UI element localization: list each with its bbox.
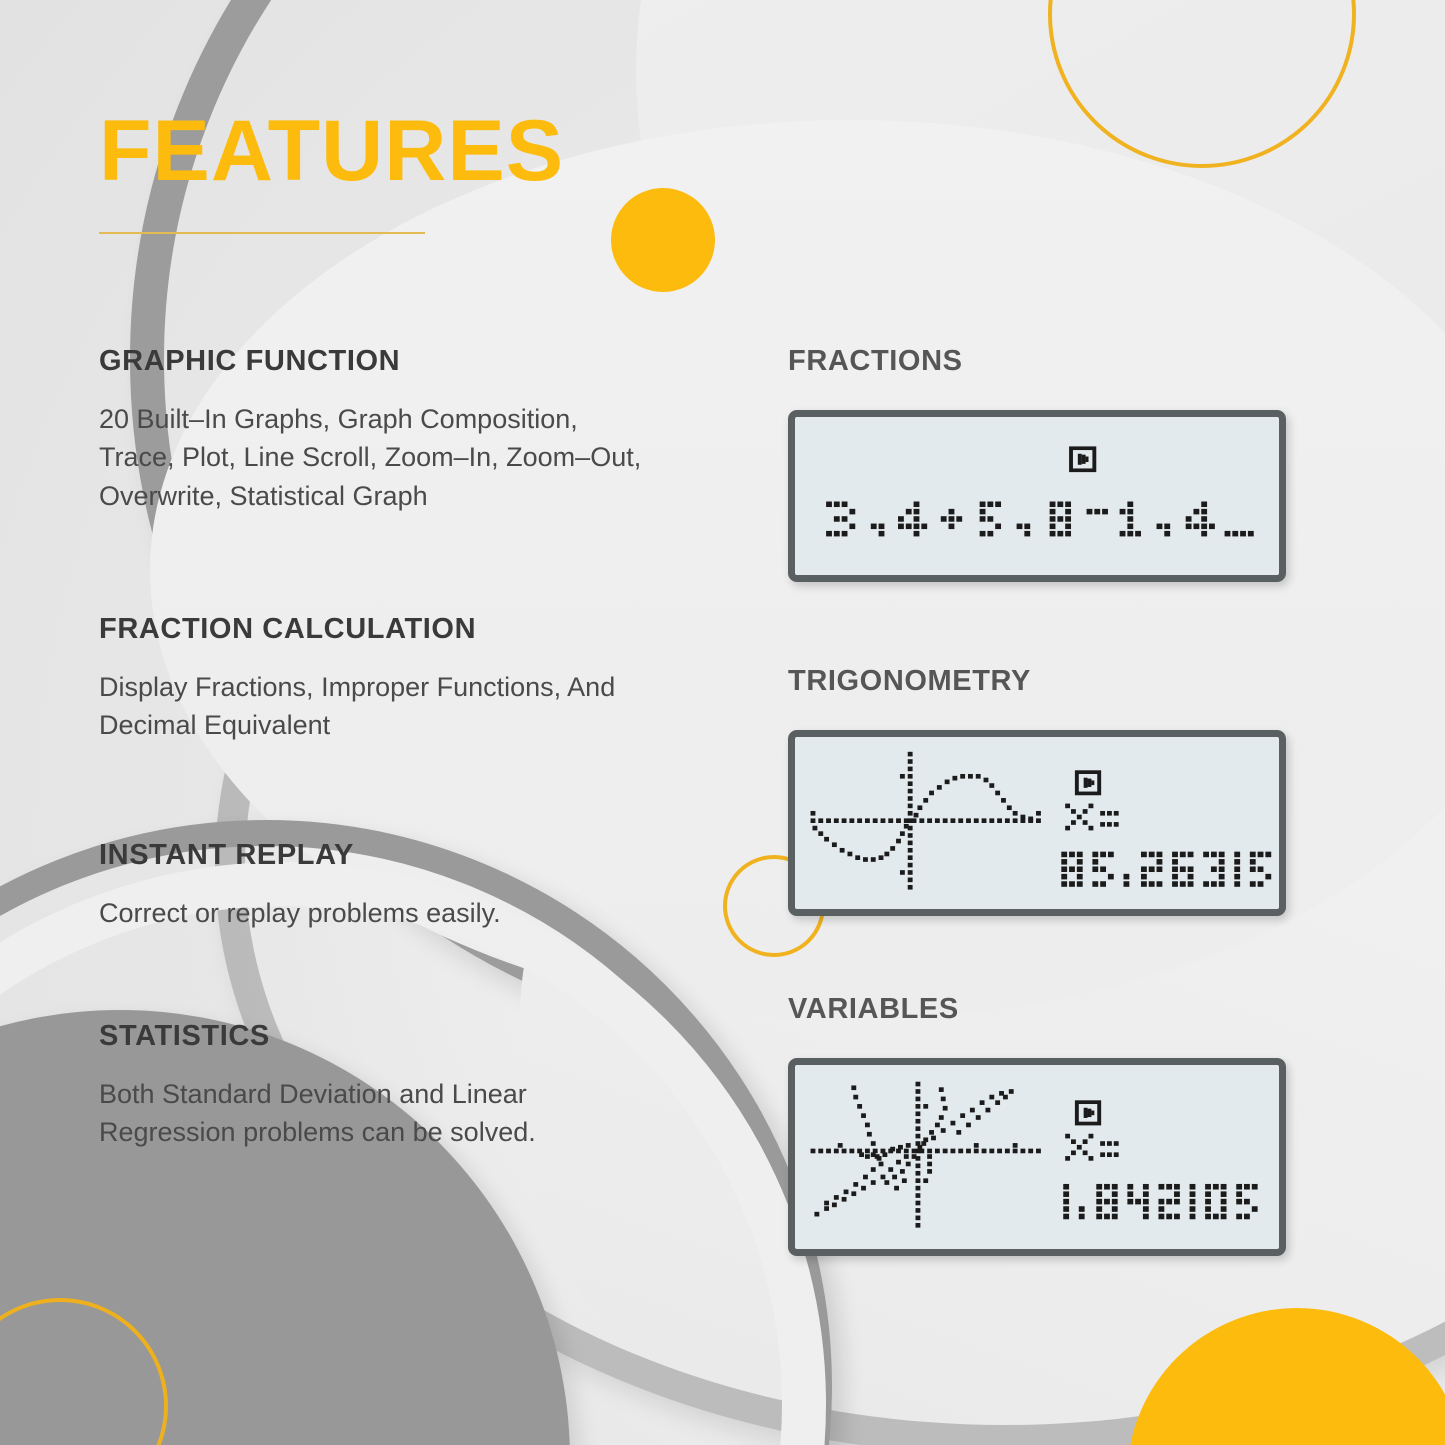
feature-body: Correct or replay problems easily. bbox=[99, 894, 659, 932]
feature-fractions: FRACTIONS bbox=[788, 345, 1308, 582]
feature-heading: STATISTICS bbox=[99, 1020, 659, 1053]
page-title: FEATURES bbox=[99, 108, 564, 194]
poster-content: FEATURES GRAPHIC FUNCTION 20 Built–In Gr… bbox=[0, 0, 1445, 1445]
lcd-display-trigonometry bbox=[788, 730, 1286, 916]
feature-heading: VARIABLES bbox=[788, 993, 1308, 1026]
trigonometry-screen-graphic bbox=[795, 737, 1279, 909]
feature-heading: FRACTION CALCULATION bbox=[99, 613, 659, 646]
lcd-display-variables bbox=[788, 1058, 1286, 1256]
feature-heading: FRACTIONS bbox=[788, 345, 1308, 378]
feature-body: Display Fractions, Improper Functions, A… bbox=[99, 668, 659, 745]
feature-fraction-calculation: FRACTION CALCULATION Display Fractions, … bbox=[99, 613, 659, 745]
feature-heading: TRIGONOMETRY bbox=[788, 665, 1308, 698]
feature-variables: VARIABLES bbox=[788, 993, 1308, 1256]
spacer bbox=[99, 515, 659, 613]
feature-graphic-function: GRAPHIC FUNCTION 20 Built–In Graphs, Gra… bbox=[99, 345, 659, 515]
feature-body: Both Standard Deviation and Linear Regre… bbox=[99, 1075, 659, 1152]
feature-statistics: STATISTICS Both Standard Deviation and L… bbox=[99, 1020, 659, 1152]
fractions-screen-graphic bbox=[795, 417, 1279, 575]
feature-heading: INSTANT REPLAY bbox=[99, 839, 659, 872]
feature-heading: GRAPHIC FUNCTION bbox=[99, 345, 659, 378]
lcd-display-fractions bbox=[788, 410, 1286, 582]
spacer bbox=[99, 745, 659, 839]
feature-trigonometry: TRIGONOMETRY bbox=[788, 665, 1308, 916]
spacer bbox=[99, 932, 659, 1020]
feature-instant-replay: INSTANT REPLAY Correct or replay problem… bbox=[99, 839, 659, 932]
variables-screen-graphic bbox=[795, 1065, 1279, 1249]
left-feature-column: GRAPHIC FUNCTION 20 Built–In Graphs, Gra… bbox=[99, 345, 659, 1152]
poster-canvas: FEATURES GRAPHIC FUNCTION 20 Built–In Gr… bbox=[0, 0, 1445, 1445]
title-underline bbox=[99, 232, 425, 234]
feature-body: 20 Built–In Graphs, Graph Composition, T… bbox=[99, 400, 659, 515]
